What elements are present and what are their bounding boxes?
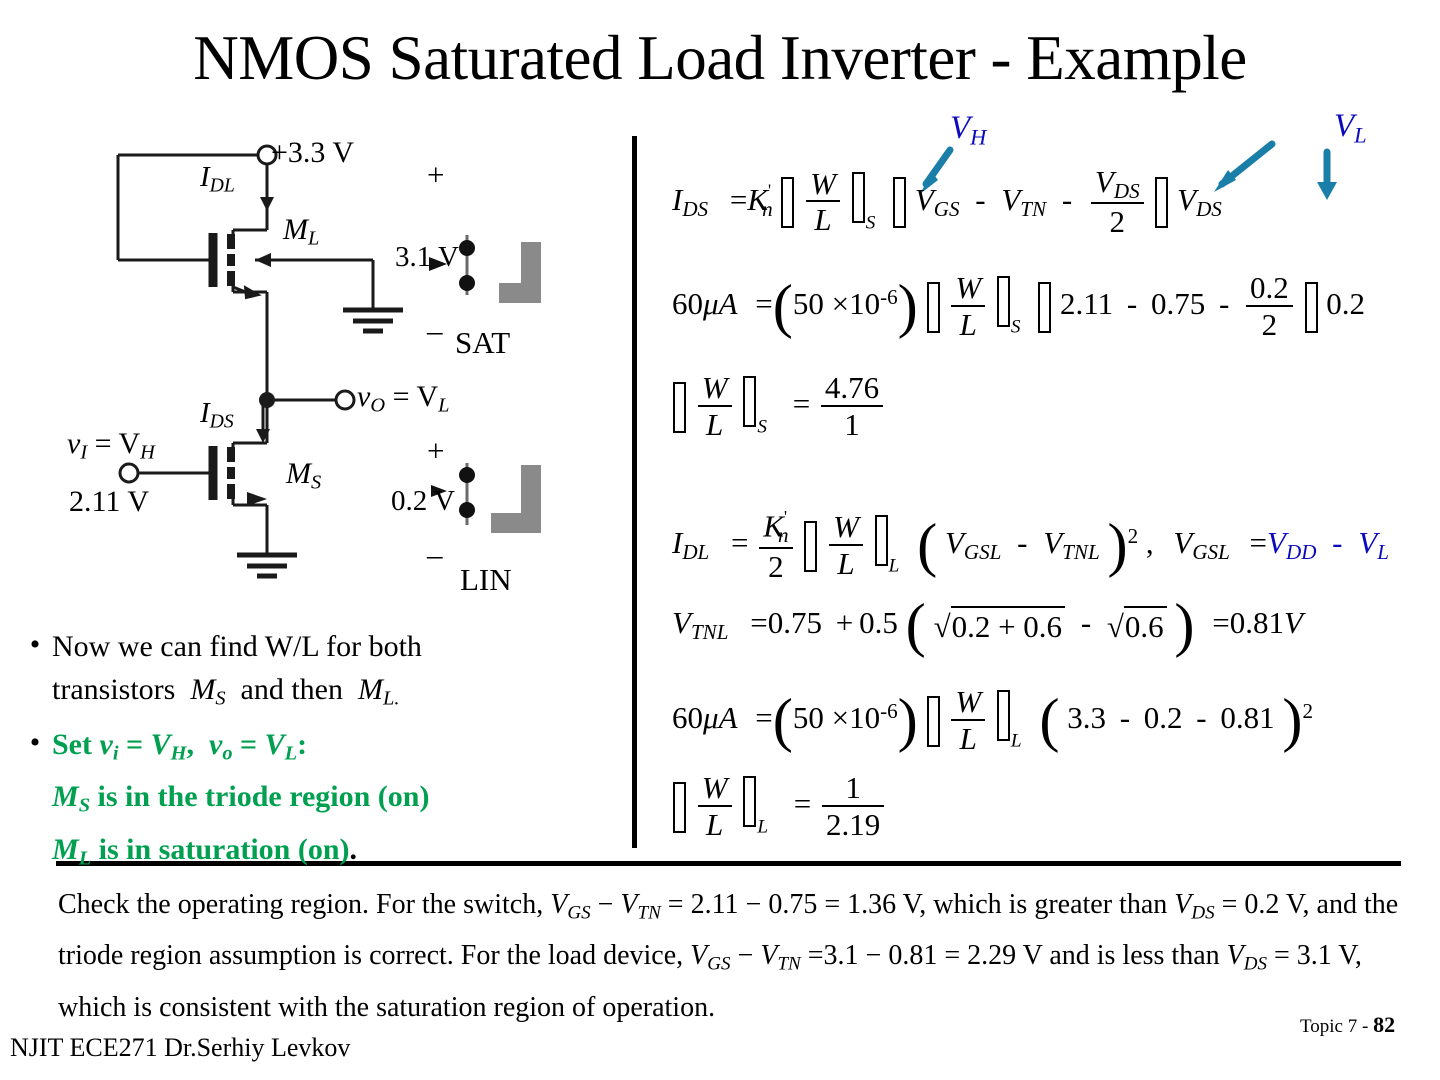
lin-label: LIN — [460, 562, 512, 598]
footer-page-number: Topic 7 - 82 — [1300, 1012, 1395, 1038]
w-over-l-fraction: W L — [951, 272, 985, 342]
bullet-dot-icon: • — [18, 723, 52, 763]
bracket-open-glyph — [672, 782, 687, 833]
bracket-close-glyph-2 — [1304, 282, 1319, 333]
plus-bottom: + — [427, 433, 444, 469]
circuit-diagram: +3.3 V IDL ML 3.1 V + – SAT IDS vO = VL … — [55, 135, 630, 615]
vds-over-2-fraction: VDS 2 — [1091, 166, 1144, 240]
bracket-open-glyph-2 — [1028, 282, 1052, 333]
bullet-1-line-2: transistors MS and then ML. — [52, 668, 422, 721]
footer-course-info: NJIT ECE271 Dr.Serhiy Levkov — [10, 1033, 350, 1063]
page-title: NMOS Saturated Load Inverter - Example — [0, 22, 1440, 94]
bullet-list: • Now we can find W/L for both transisto… — [18, 625, 628, 881]
para-line-1: Check the operating region. For the swit… — [58, 889, 1167, 920]
bracket-close-glyph-2 — [1154, 177, 1169, 228]
list-item: • Set vi = VH, vo = VL: MS is in the tri… — [18, 723, 628, 881]
equation-1: IDS =K'n W L S VGS - VTN - VDS 2 VDS — [672, 166, 1222, 240]
w-over-l-fraction: W L — [829, 511, 863, 581]
sqrt-2: √0.6 — [1107, 606, 1167, 645]
explanatory-paragraph: Check the operating region. For the swit… — [58, 883, 1408, 1029]
bracket-close-glyph: L — [996, 690, 1022, 753]
kn-over-2-fraction: K'n 2 — [759, 508, 792, 584]
input-voltage: 2.11 V — [69, 485, 149, 519]
output-node-dot — [259, 392, 275, 408]
equation-6: 60μA =(50 ×10-6) W L L ( 3.3 - 0.2 - 0.8… — [672, 686, 1313, 756]
bracket-close-glyph: S — [742, 376, 767, 439]
w-over-l-fraction: W L — [806, 168, 840, 238]
bracket-open-glyph-2 — [883, 177, 907, 228]
bullet-1-line-1: Now we can find W/L for both — [52, 625, 422, 668]
minus-bottom: – — [427, 537, 443, 573]
vertical-divider — [632, 136, 637, 848]
sat-label: SAT — [455, 325, 510, 361]
ml-label: ML — [283, 213, 319, 251]
equation-3: W L S = 4.76 1 — [672, 372, 886, 442]
bullet-1-text: Now we can find W/L for both transistors… — [52, 625, 422, 721]
circuit-svg — [55, 135, 630, 615]
ids-label: IDS — [200, 397, 234, 434]
output-terminal — [336, 391, 354, 409]
bracket-close-glyph: S — [996, 276, 1021, 339]
minus-top: – — [427, 313, 443, 349]
sqrt-1: √0.2 + 0.6 — [934, 606, 1066, 645]
bullet-2-line-3: ML is in saturation (on). — [52, 828, 429, 881]
equation-2: 60μA =(50 ×10-6) W L S 2.11 - 0.75 - 0.2… — [672, 272, 1365, 342]
list-item: • Now we can find W/L for both transisto… — [18, 625, 628, 721]
bracket-close-glyph: L — [874, 515, 900, 578]
bracket-close-glyph: S — [851, 172, 876, 235]
bullet-dot-icon: • — [18, 625, 52, 665]
supply-label: +3.3 V — [271, 136, 354, 170]
result-fraction: 1 2.19 — [822, 772, 884, 842]
node-voltage-load: 3.1 V — [395, 241, 459, 274]
w-over-l-fraction: W L — [698, 772, 732, 842]
w-over-l-fraction: W L — [698, 372, 732, 442]
bullet-2-line-2: MS is in the triode region (on) — [52, 775, 429, 828]
bullet-2-line-1: Set vi = VH, vo = VL: — [52, 723, 429, 776]
bracket-open-glyph — [803, 521, 818, 572]
idl-label: IDL — [200, 161, 235, 198]
bracket-open-glyph — [926, 282, 941, 333]
ms-label: MS — [286, 457, 321, 495]
plus-top: + — [427, 157, 444, 193]
result-fraction: 4.76 1 — [821, 372, 883, 442]
equation-5: VTNL =0.75 +0.5 ( √0.2 + 0.6 - √0.6 ) =0… — [672, 604, 1303, 648]
bullet-2-text: Set vi = VH, vo = VL: MS is in the triod… — [52, 723, 429, 881]
input-label: vI = VH — [67, 427, 155, 465]
bracket-open-glyph — [926, 696, 941, 747]
point2-over-2-fraction: 0.2 2 — [1246, 272, 1293, 342]
equation-7: W L L = 1 2.19 — [672, 772, 887, 842]
vh-annotation-label: VH — [950, 110, 986, 150]
bracket-close-glyph: L — [742, 776, 768, 839]
input-terminal — [120, 464, 138, 482]
bracket-open-glyph — [780, 177, 795, 228]
w-over-l-fraction: W L — [951, 686, 985, 756]
node-voltage-switch: 0.2 V — [391, 485, 455, 518]
equation-4: IDL = K'n 2 W L L ( VGSL - VTNL )2 , VGS… — [672, 508, 1389, 584]
output-label: vO = VL — [357, 380, 449, 418]
bracket-open-glyph — [672, 382, 687, 433]
vl-annotation-label: VL — [1334, 108, 1367, 148]
